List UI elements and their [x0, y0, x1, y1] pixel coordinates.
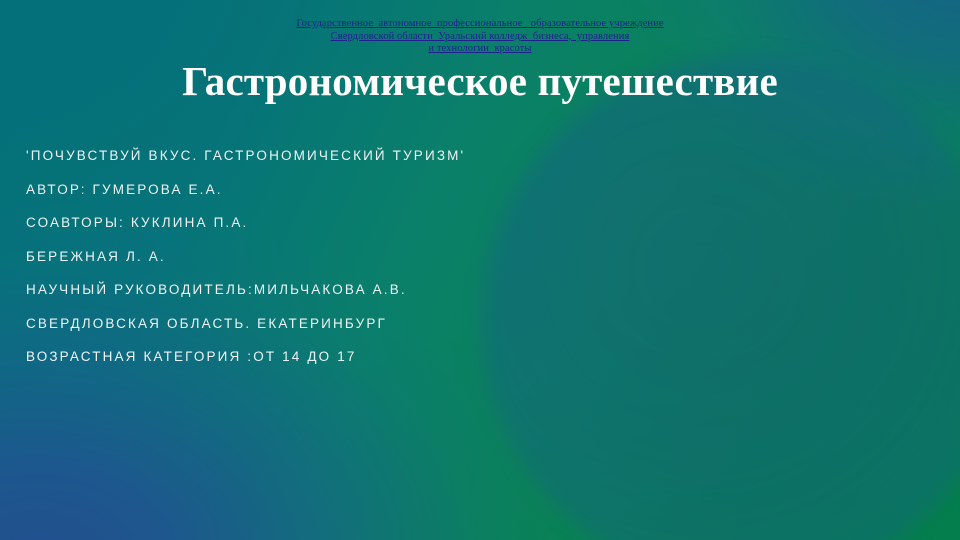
body-line-coauthor-second: БЕРЕЖНАЯ Л. А.: [26, 249, 786, 265]
presentation-slide: Государственное автономное профессиональ…: [0, 0, 960, 540]
body-line-supervisor: НАУЧНЫЙ РУКОВОДИТЕЛЬ:МИЛЬЧАКОВА А.В.: [26, 282, 786, 298]
organization-header-line-1[interactable]: Государственное автономное профессиональ…: [0, 18, 960, 31]
slide-content: Государственное автономное профессиональ…: [0, 0, 960, 540]
organization-header-line-2[interactable]: Свердловской области Уральский колледж б…: [0, 31, 960, 44]
body-line-age-category: ВОЗРАСТНАЯ КАТЕГОРИЯ :ОТ 14 ДО 17: [26, 349, 786, 365]
slide-title: Гастрономическое путешествие: [0, 57, 960, 105]
slide-body-text-block: 'ПОЧУВСТВУЙ ВКУС. ГАСТРОНОМИЧЕСКИЙ ТУРИЗ…: [26, 148, 786, 365]
body-line-location: СВЕРДЛОВСКАЯ ОБЛАСТЬ. ЕКАТЕРИНБУРГ: [26, 316, 786, 332]
body-line-coauthors: СОАВТОРЫ: КУКЛИНА П.А.: [26, 215, 786, 231]
organization-header: Государственное автономное профессиональ…: [0, 18, 960, 56]
organization-header-line-3[interactable]: и технологии красоты: [0, 43, 960, 56]
body-line-project-theme: 'ПОЧУВСТВУЙ ВКУС. ГАСТРОНОМИЧЕСКИЙ ТУРИЗ…: [26, 148, 786, 164]
body-line-author: АВТОР: ГУМЕРОВА Е.А.: [26, 182, 786, 198]
